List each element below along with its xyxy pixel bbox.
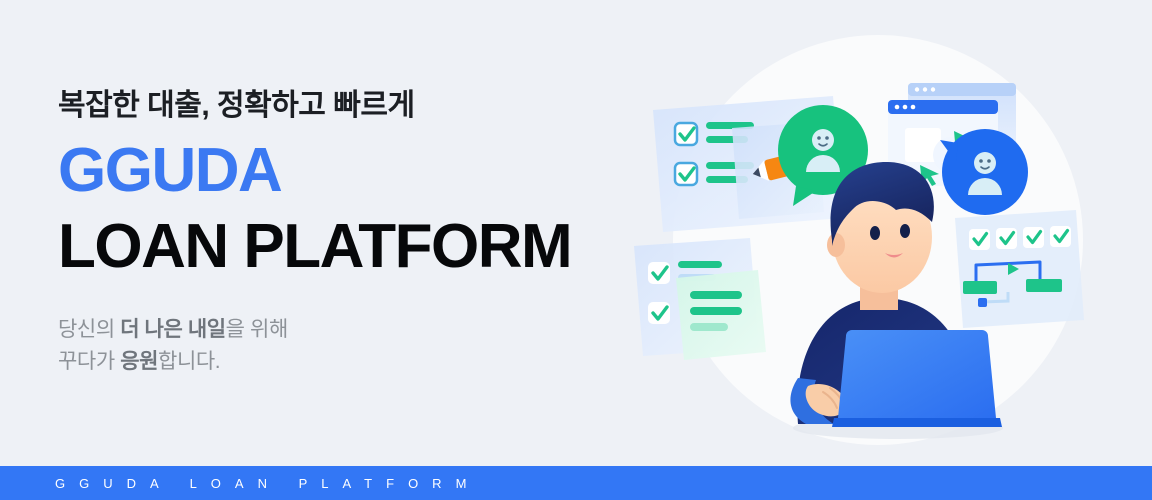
tagline-1-prefix: 당신의 (58, 318, 120, 341)
hero-tagline-line-2: 꾸다가 응원합니다. (58, 346, 658, 379)
footer-strip-text: GGUDA LOAN PLATFORM (0, 476, 480, 491)
person-eye-left (870, 226, 880, 240)
laptop-base (832, 418, 1002, 427)
person-eye-right (900, 224, 910, 238)
laptop-screen (838, 330, 996, 418)
hero-tagline-line-1: 당신의 더 나은 내일을 위해 (58, 314, 658, 347)
hero-eyebrow: 복잡한 대출, 정확하고 빠르게 (58, 88, 658, 125)
hero-banner: 복잡한 대출, 정확하고 빠르게 GGUDA LOAN PLATFORM 당신의… (0, 0, 1152, 500)
tagline-2-prefix: 꾸다가 (58, 350, 120, 373)
workflow-panel-right (955, 210, 1084, 328)
footer-strip: GGUDA LOAN PLATFORM (0, 466, 1152, 500)
hero-tagline: 당신의 더 나은 내일을 위해 꾸다가 응원합니다. (58, 314, 658, 379)
tagline-1-strong: 더 나은 내일 (120, 318, 225, 341)
tagline-1-suffix: 을 위해 (226, 318, 288, 341)
hero-brand-subtitle: LOAN PLATFORM (58, 215, 658, 279)
tagline-2-suffix: 합니다. (158, 350, 220, 373)
hero-brand-name: GGUDA (58, 139, 658, 203)
tagline-2-strong: 응원 (120, 350, 158, 373)
hero-copy: 복잡한 대출, 정확하고 빠르게 GGUDA LOAN PLATFORM 당신의… (58, 88, 658, 379)
hero-illustration (620, 0, 1152, 466)
mint-note-card (676, 270, 766, 360)
